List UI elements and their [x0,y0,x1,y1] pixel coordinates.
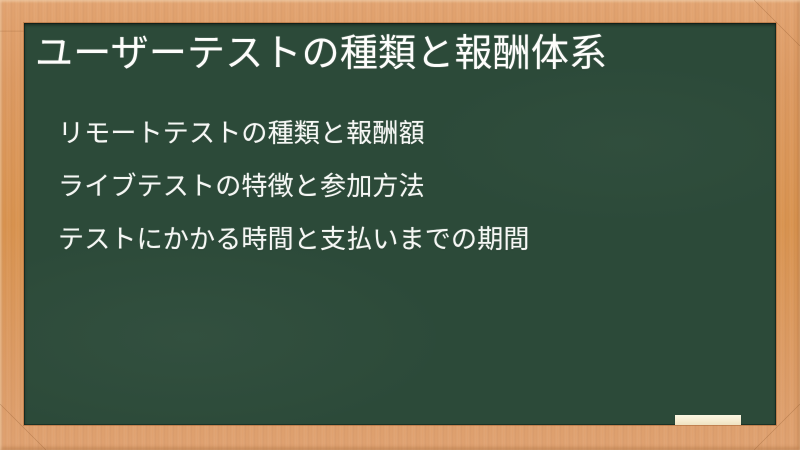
chalk-eraser-icon [675,415,741,425]
slide-title: ユーザーテストの種類と報酬体系 [35,34,607,72]
list-item: リモートテストの種類と報酬額 [58,108,530,161]
chalkboard-surface: ユーザーテストの種類と報酬体系 リモートテストの種類と報酬額 ライブテストの特徴… [24,23,776,425]
topic-list: リモートテストの種類と報酬額 ライブテストの特徴と参加方法 テストにかかる時間と… [58,108,530,267]
chalkboard-slide: ユーザーテストの種類と報酬体系 リモートテストの種類と報酬額 ライブテストの特徴… [0,0,800,450]
list-item: テストにかかる時間と支払いまでの期間 [58,214,530,267]
list-item: ライブテストの特徴と参加方法 [58,161,530,214]
